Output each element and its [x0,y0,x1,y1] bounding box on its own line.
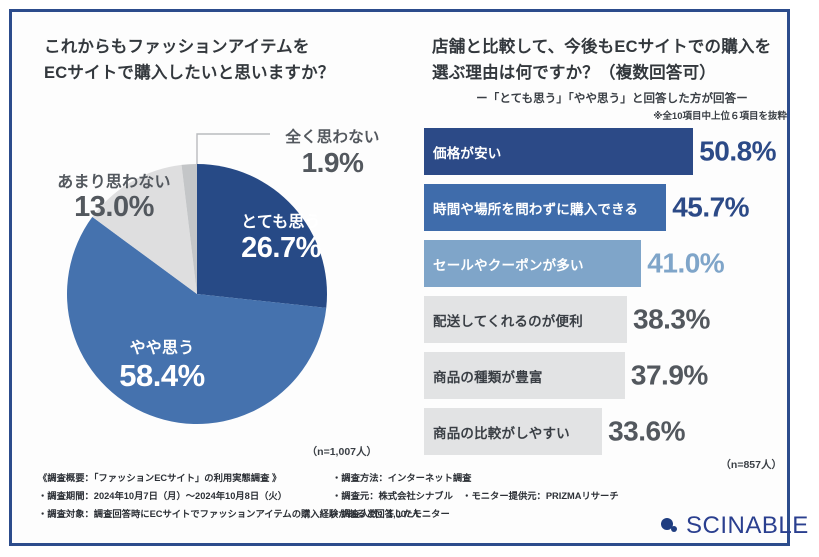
bar-fill: 価格が安い [424,128,693,175]
bar-category-label: 時間や場所を問わずに購入できる [424,198,638,218]
pie-title-line-2: ECサイトで購入したいと思いますか？ [44,61,394,87]
bar-chart-rows: 価格が安い50.8%時間や場所を問わずに購入できる45.7%セールやクーポンが多… [424,128,782,464]
bar-row: セールやクーポンが多い41.0% [424,240,782,287]
pie-title-line-1: これからもファッションアイテムを [44,35,394,61]
bar-fill: 商品の種類が豊富 [424,352,625,399]
bar-row: 配送してくれるのが便利38.3% [424,296,782,343]
bar-fill: 時間や場所を問わずに購入できる [424,184,666,231]
callout-leader-line [197,134,270,164]
pie-svg [12,112,407,442]
bar-title-line-1: 店舗と比較して、今後もECサイトでの購入を [432,35,792,61]
bar-title-line-2: 選ぶ理由は何ですか？（複数回答可） [432,61,792,87]
pie-chart-panel: これからもファッションアイテムを ECサイトで購入したいと思いますか？ とても思… [12,12,407,460]
bar-value-label: 41.0% [647,247,724,279]
pie-chart-title: これからもファッションアイテムを ECサイトで購入したいと思いますか？ [44,35,394,86]
footer-line: ・調査元：株式会社シナブル ・モニター提供元：PRIZMAリサーチ [332,488,619,506]
bar-row: 時間や場所を問わずに購入できる45.7% [424,184,782,231]
logo-wordmark: SCINABLE [686,512,809,540]
bar-category-label: セールやクーポンが多い [424,254,584,274]
bar-subtitle-secondary: ※全10項目中上位６項目を抜粋 [432,108,787,122]
infographic-frame: これからもファッションアイテムを ECサイトで購入したいと思いますか？ とても思… [9,9,790,546]
footer-line: ・調査人数：1,007人 [332,506,619,524]
bar-row: 商品の比較がしやすい33.6% [424,408,782,455]
bar-value-label: 45.7% [672,191,749,223]
bar-category-label: 商品の種類が豊富 [424,366,543,386]
bar-category-label: 商品の比較がしやすい [424,422,570,442]
scinable-logo: SCINABLE [660,512,809,540]
bar-chart-panel: 店舗と比較して、今後もECサイトでの購入を 選ぶ理由は何ですか？（複数回答可） … [410,12,790,460]
bar-subtitle-primary: ー「とても思う」「やや思う」と回答した方が回答ー [432,90,792,106]
pie-chart-graphic: とても思う 26.7% やや思う 58.4% あまり思わない 13.0% 全く思… [12,112,407,442]
bar-value-label: 50.8% [699,135,776,167]
bar-fill: 商品の比較がしやすい [424,408,602,455]
logo-dots-icon [660,516,686,536]
bar-row: 商品の種類が豊富37.9% [424,352,782,399]
pie-sample-size: （n=1,007人） [212,444,377,459]
bar-fill: 配送してくれるのが便利 [424,296,627,343]
survey-footer: 《調査概要：「ファッションECサイト」の利用実態調査 》・調査期間：2024年1… [12,464,787,544]
footer-column-right: ・調査方法：インターネット調査・調査元：株式会社シナブル ・モニター提供元：PR… [332,470,619,524]
bar-value-label: 33.6% [608,415,685,447]
bar-value-label: 37.9% [631,359,708,391]
bar-row: 価格が安い50.8% [424,128,782,175]
bar-chart-title: 店舗と比較して、今後もECサイトでの購入を 選ぶ理由は何ですか？（複数回答可） [432,35,792,86]
bar-category-label: 配送してくれるのが便利 [424,310,583,330]
bar-value-label: 38.3% [633,303,710,335]
bar-category-label: 価格が安い [424,142,502,162]
pie-slice [197,164,327,308]
footer-line: ・調査方法：インターネット調査 [332,470,619,488]
bar-fill: セールやクーポンが多い [424,240,641,287]
